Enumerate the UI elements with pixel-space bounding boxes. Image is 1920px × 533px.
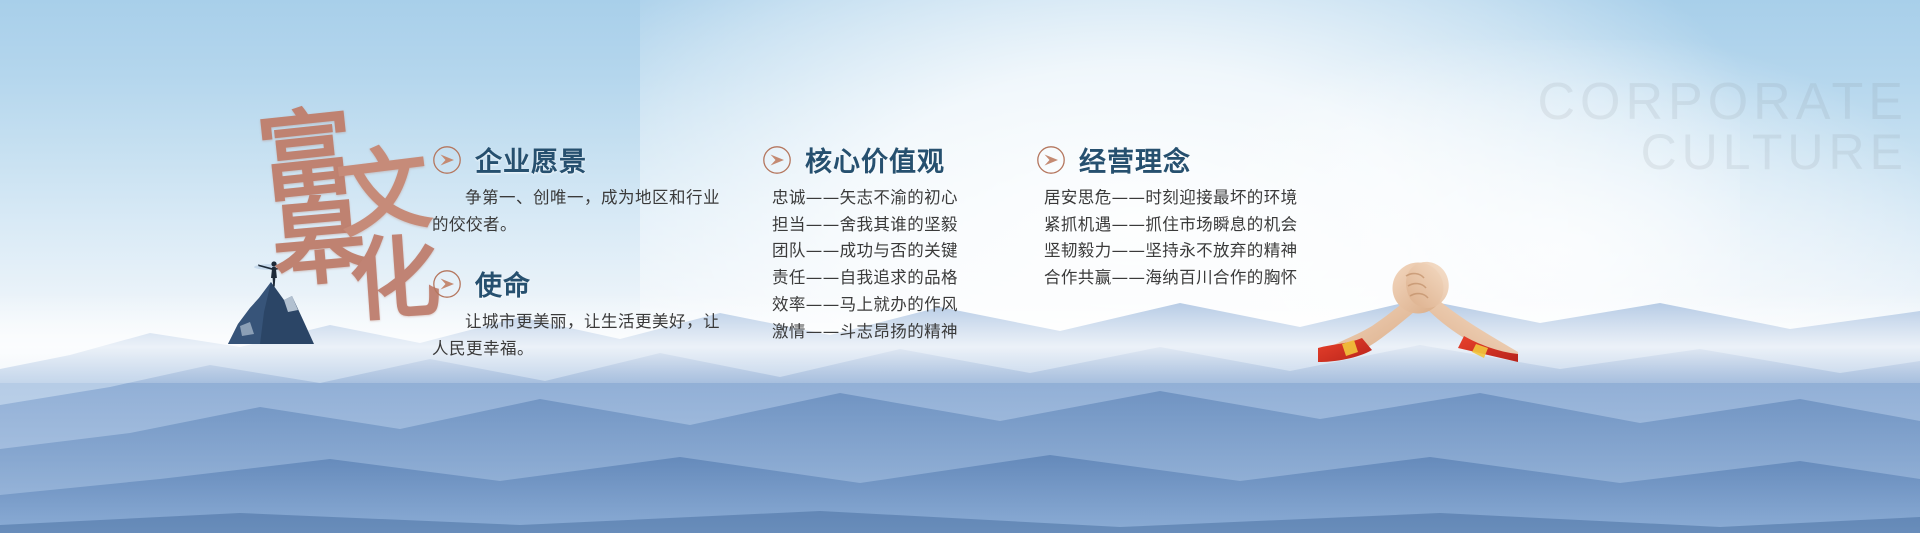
mission-body: 让城市更美丽，让生活更美好，让人民更幸福。	[432, 309, 732, 362]
mission-heading: 使命	[432, 264, 732, 303]
clasped-hands-image	[1318, 252, 1518, 362]
calligraphy-char-3: 文	[333, 141, 436, 244]
list-item: 担当——舍我其谁的坚毅	[772, 212, 1022, 239]
block-mission: 使命 让城市更美丽，让生活更美好，让人民更幸福。	[432, 264, 732, 362]
column-left: 企业愿景 争第一、创唯一，成为地区和行业的佼佼者。 使命 让城市更美丽，让生活更…	[432, 140, 732, 363]
list-item: 合作共赢——海纳百川合作的胸怀	[1044, 265, 1336, 292]
list-item: 坚韧毅力——坚持永不放弃的精神	[1044, 238, 1336, 265]
mission-title: 使命	[475, 264, 531, 303]
list-item: 责任——自我追求的品格	[772, 265, 1022, 292]
corporate-culture-banner: CORPORATE CULTURE 富 皋 文 化 企业愿景 争第一、创唯一，成…	[0, 0, 1920, 533]
climber-silhouette-icon	[252, 258, 296, 288]
list-item: 效率——马上就办的作风	[772, 292, 1022, 319]
core-values-heading: 核心价值观	[762, 140, 1022, 179]
list-item: 居安思危——时刻迎接最坏的环境	[1044, 185, 1336, 212]
arrow-circle-icon	[762, 145, 792, 175]
arrow-circle-icon	[432, 269, 462, 299]
lone-peak	[226, 282, 316, 346]
core-values-list: 忠诚——矢志不渝的初心 担当——舍我其谁的坚毅 团队——成功与否的关键 责任——…	[772, 185, 1022, 345]
block-vision: 企业愿景 争第一、创唯一，成为地区和行业的佼佼者。	[432, 140, 732, 238]
vision-heading: 企业愿景	[432, 140, 732, 179]
watermark-line-2: CULTURE	[1537, 128, 1908, 176]
column-middle: 核心价值观 忠诚——矢志不渝的初心 担当——舍我其谁的坚毅 团队——成功与否的关…	[762, 140, 1022, 345]
arrow-circle-icon	[1036, 145, 1066, 175]
list-item: 忠诚——矢志不渝的初心	[772, 185, 1022, 212]
watermark-corporate-culture: CORPORATE CULTURE	[1537, 78, 1908, 176]
core-values-title: 核心价值观	[805, 140, 945, 179]
arrow-circle-icon	[432, 145, 462, 175]
list-item: 激情——斗志昂扬的精神	[772, 319, 1022, 346]
vision-body: 争第一、创唯一，成为地区和行业的佼佼者。	[432, 185, 732, 238]
management-philosophy-title: 经营理念	[1079, 140, 1191, 179]
list-item: 团队——成功与否的关键	[772, 238, 1022, 265]
management-philosophy-heading: 经营理念	[1036, 140, 1336, 179]
calligraphy-char-1: 富	[253, 103, 359, 209]
management-philosophy-list: 居安思危——时刻迎接最坏的环境 紧抓机遇——抓住市场瞬息的机会 坚韧毅力——坚持…	[1044, 185, 1336, 292]
watermark-line-1: CORPORATE	[1537, 73, 1908, 131]
list-item: 紧抓机遇——抓住市场瞬息的机会	[1044, 212, 1336, 239]
column-right: 经营理念 居安思危——时刻迎接最坏的环境 紧抓机遇——抓住市场瞬息的机会 坚韧毅…	[1036, 140, 1336, 292]
vision-title: 企业愿景	[475, 140, 587, 179]
